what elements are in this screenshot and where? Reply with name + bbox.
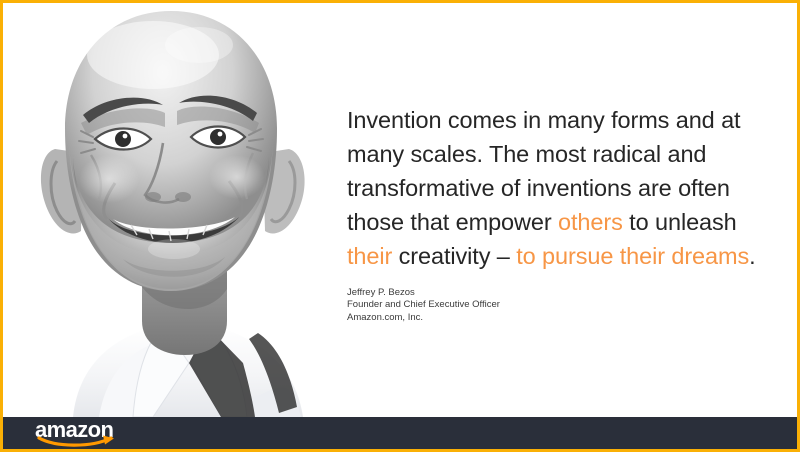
- quote-segment-2: to unleash: [623, 209, 737, 235]
- quote-segment-4: creativity –: [392, 243, 516, 269]
- portrait-photo: [3, 3, 337, 417]
- attribution-company: Amazon.com, Inc.: [347, 312, 500, 324]
- attribution-name: Jeffrey P. Bezos: [347, 287, 500, 299]
- presentation-slide: Invention comes in many forms and at man…: [0, 0, 800, 452]
- quote-segment-6: .: [749, 243, 755, 269]
- amazon-logo: amazon: [35, 419, 131, 447]
- attribution-title: Founder and Chief Executive Officer: [347, 299, 500, 311]
- attribution: Jeffrey P. Bezos Founder and Chief Execu…: [347, 287, 500, 324]
- portrait-image: [3, 3, 337, 417]
- quote-block: Invention comes in many forms and at man…: [347, 103, 767, 273]
- quote-segment-3: their: [347, 243, 392, 269]
- footer-bar: amazon: [3, 417, 797, 449]
- quote-text: Invention comes in many forms and at man…: [347, 103, 767, 273]
- quote-segment-1: others: [558, 209, 623, 235]
- amazon-smile-arrow-icon: [37, 434, 119, 447]
- quote-segment-5: to pursue their dreams: [516, 243, 749, 269]
